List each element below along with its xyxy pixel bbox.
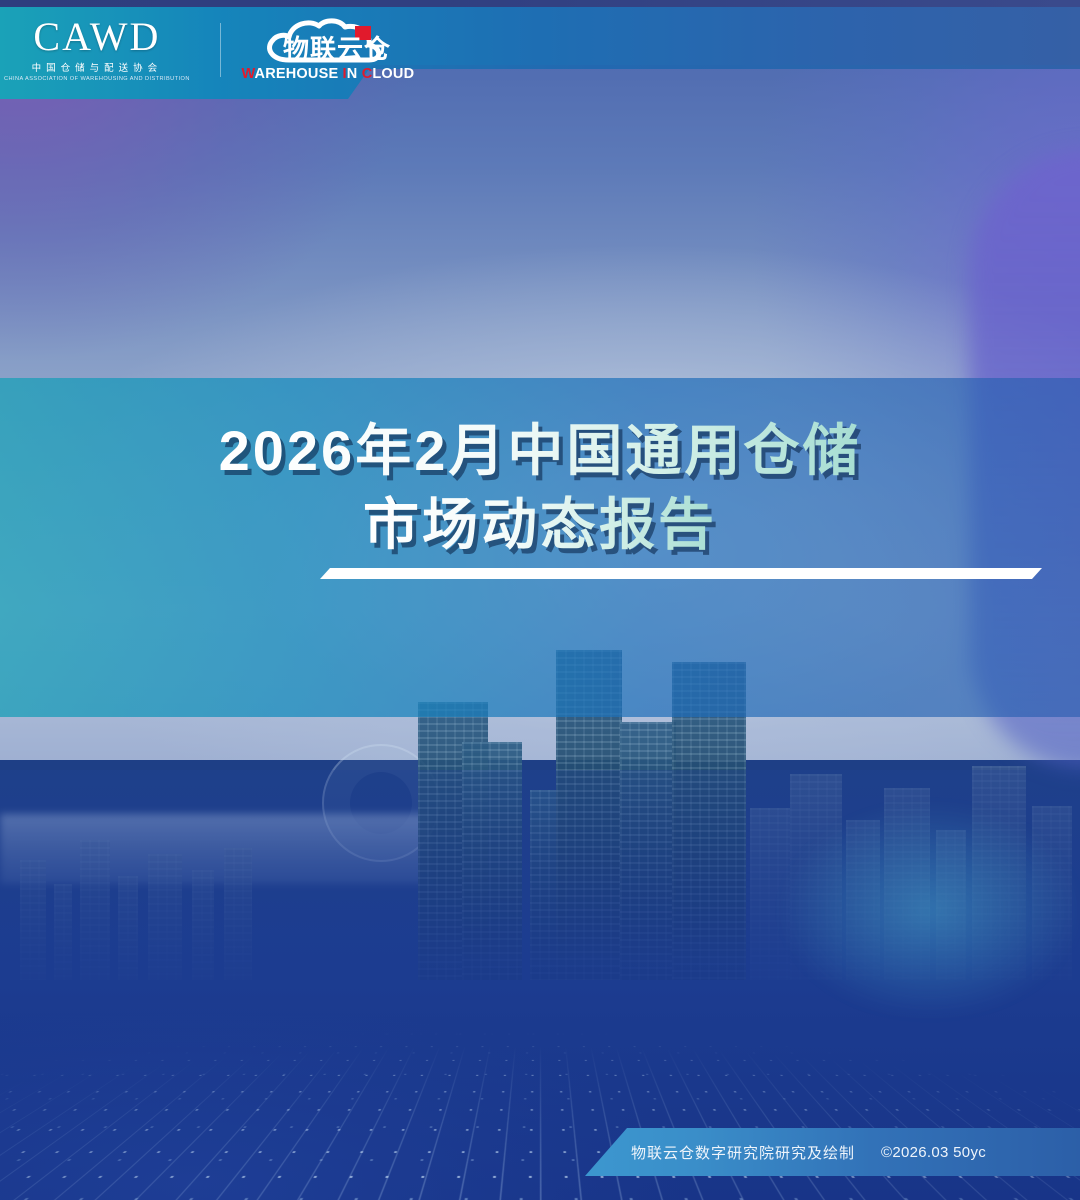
top-accent-strip xyxy=(0,0,1080,7)
cawd-english-name: CHINA ASSOCIATION OF WAREHOUSING AND DIS… xyxy=(4,76,190,82)
footer-producer: 物联云仓数字研究院研究及绘制 xyxy=(631,1142,855,1163)
logo-bar: CAWD 中国仓储与配送协会 CHINA ASSOCIATION OF WARE… xyxy=(0,14,417,86)
wic-english-name: WAREHOUSE IN CLOUD xyxy=(239,66,417,82)
wic-logo[interactable]: 物联云仓 WAREHOUSE IN CLOUD xyxy=(237,16,417,84)
cawd-logo[interactable]: CAWD 中国仓储与配送协会 CHINA ASSOCIATION OF WARE… xyxy=(0,18,204,81)
cawd-acronym: CAWD xyxy=(33,18,160,56)
cawd-chinese-name: 中国仓储与配送协会 xyxy=(32,60,163,74)
footer-text-group: 物联云仓数字研究院研究及绘制 ©2026.03 50yc xyxy=(585,1128,1080,1176)
logo-divider xyxy=(220,23,221,77)
page-title-line-1: 2026年2月中国通用仓储 xyxy=(219,414,862,488)
svg-text:物联云仓: 物联云仓 xyxy=(283,34,391,65)
cloud-icon: 物联云仓 xyxy=(237,14,417,70)
footer-copyright: ©2026.03 50yc xyxy=(881,1144,986,1161)
title-block: 2026年2月中国通用仓储 市场动态报告 xyxy=(0,378,1080,717)
mesh-glow-highlight xyxy=(720,760,1080,1060)
report-cover-page: CAWD 中国仓储与配送协会 CHINA ASSOCIATION OF WARE… xyxy=(0,0,1080,1200)
title-underline-bar xyxy=(320,568,1042,579)
page-title-line-2: 市场动态报告 xyxy=(363,488,717,562)
